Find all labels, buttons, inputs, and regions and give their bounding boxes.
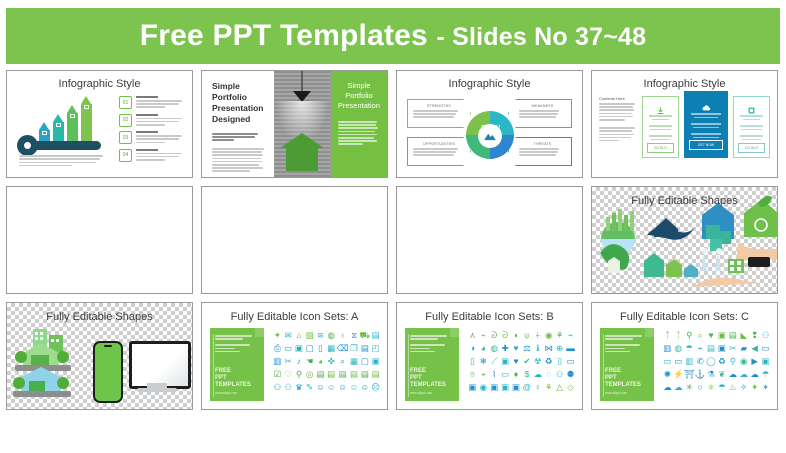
cloud3-icon[interactable]: ☁ [739,370,748,379]
swot-label: STRENGTHS [413,104,465,108]
pricing-card-2[interactable]: GET NOW [684,91,728,158]
search2-icon[interactable]: ⌕ [698,331,703,340]
pin-icon[interactable]: ✜ [328,357,335,366]
ivy-house-icon [280,133,324,171]
pencil-icon[interactable]: ✎ [306,383,313,392]
frame-icon[interactable]: ▢ [361,357,369,366]
banner-title: Free PPT Templates - Slides No 37~48 [140,19,646,53]
umbrella-icon[interactable]: ☂ [685,344,693,353]
location-icon[interactable]: ⚲ [730,357,736,366]
cloud4-icon[interactable]: ☁ [750,370,759,379]
book-green3-icon[interactable]: ▤ [339,370,347,379]
slide-thumbnail-7[interactable]: THANK YOU Insert the Subtitle of Your Pr… [396,186,583,294]
key-hole [24,142,31,149]
runner-icon[interactable]: ⚘ [545,383,553,392]
sun-icon[interactable]: ✺ [664,370,671,379]
bar-group [39,96,92,142]
banner-title-main: Free PPT Templates [140,19,428,52]
image-icon[interactable]: ▣ [762,357,770,366]
bar-1 [39,122,50,142]
contents-label: Contents Here [599,96,636,101]
swot-box-weakness: WEAKNESS [508,99,572,128]
slide3-title: Infographic Style [397,78,582,90]
partly-cloudy-icon[interactable]: ☁ [674,383,683,392]
swot-label: WEAKNESS [519,104,566,108]
heart-organ-icon[interactable]: ♥ [514,344,519,353]
bone-icon[interactable]: ⌁ [481,331,486,340]
green-card: FREEPPTTEMPLATES www.allppt.com [405,328,459,401]
calendar-icon[interactable]: ▦ [327,344,335,353]
snowflake-icon[interactable]: ❄ [480,357,487,366]
icon-grid-b: ⋏⌁ ᘒᘐ ◗⍦ ⍭◉ ⚘⌁ ◑◕ ◍✚ ♥⚖ ℹ⋈ ⊕▬ ▯❄ ⟋▣ ♥✔ ☢… [467,329,576,394]
unlock-icon[interactable]: ▤ [707,344,715,353]
at-icon[interactable]: @ [523,383,532,392]
trash-icon[interactable]: ⌫ [337,344,349,353]
user-icon[interactable]: ⚉ [567,370,575,379]
city-illustration [11,325,91,405]
phone2-icon[interactable]: ✆ [697,357,704,366]
slide12-title: Fully Editable Icon Sets: C [592,311,777,323]
video-icon[interactable]: ▣ [512,383,520,392]
paw-icon[interactable]: ❦ [718,370,725,379]
grid-icon[interactable]: ▦ [350,357,358,366]
book-green6-icon[interactable]: ▤ [372,370,380,379]
record-icon[interactable]: ◉ [740,357,747,366]
swot-box-strengths: STRENGTHS [407,99,471,128]
thumbs-up-icon[interactable]: ✦ [274,331,281,340]
smiley-icon[interactable]: ☺ [316,383,325,392]
battery3-icon[interactable]: ▭ [663,357,671,366]
person-icon[interactable]: ⚇ [274,383,282,392]
slide9-title: Fully Editable Shapes [7,311,192,323]
tv-icon[interactable]: ▤ [361,344,369,353]
card-top-lines [215,335,255,354]
trophy-icon[interactable]: ♛ [295,383,303,392]
bag-icon[interactable]: ▣ [501,357,509,366]
key-icon[interactable]: ⚲ [296,370,302,379]
heart3-icon[interactable]: ♥ [709,331,714,340]
slide2-subheading-lines [212,133,266,141]
ribbon-icon[interactable]: ⋈ [544,344,553,353]
banner-title-sub: - Slides No 37~48 [436,23,646,51]
swot-label: THREATS [519,142,566,146]
virus-icon[interactable]: ⚘ [556,331,564,340]
signal-icon[interactable]: ≋ [317,331,324,340]
brain-icon[interactable]: ᘒ [491,331,497,340]
flask-icon[interactable]: ◕ [481,344,486,353]
tag-icon[interactable]: ◰ [372,344,380,353]
item-number: 01 [119,96,132,109]
linkedin-icon[interactable]: ▣ [468,383,476,392]
card-icon[interactable]: ▭ [501,370,509,379]
gate-icon[interactable]: ⛩ [684,370,695,379]
list-item: 04 [119,149,184,163]
sleeve-icon [748,257,770,267]
triangle-icon[interactable]: △ [556,383,563,392]
stethoscope-icon[interactable]: ⌁ [568,331,573,340]
icon-grid-a: ✦✉ ⌂▨ ≋◍ ♁⧖ ⛟▤ ⎙▭ ▣▢ ▯▦ ⌫❐ ▤◰ ▥✂ ♪☚ ◕✜ ⌕… [272,329,381,394]
scissors2-icon[interactable]: ✂ [729,344,736,353]
lungs-icon[interactable]: ⋏ [469,331,475,340]
card-free-label: FREEPPTTEMPLATES [410,368,446,389]
book-icon[interactable]: ▥ [273,357,281,366]
play-icon[interactable]: ▶ [751,357,758,366]
person2-icon[interactable]: ⚇ [284,383,292,392]
slide2-panel-lines [338,121,380,145]
hourglass-icon[interactable]: ⧖ [351,331,357,340]
twitter-icon[interactable]: ▣ [501,383,509,392]
mic-icon[interactable]: ⌁ [698,344,703,353]
book-green4-icon[interactable]: ▤ [350,370,358,379]
card-fold [645,328,654,337]
recycle-icon[interactable]: ♻ [545,357,553,366]
mail-icon[interactable]: ✉ [285,331,292,340]
swot-box-opportunities: OPPORTUNITIES [407,137,471,166]
cloud2-icon[interactable]: ☁ [729,370,738,379]
chart-icon[interactable]: ▨ [306,331,314,340]
pricing-button-2[interactable]: GET NOW [689,140,723,150]
laptop-icon[interactable]: ▭ [284,344,292,353]
slide2-photo [274,71,331,177]
camera-icon[interactable]: ▣ [718,331,726,340]
card-url: www.allppt.com [410,391,432,395]
cloud-icon[interactable]: ☁ [534,370,543,379]
scissors-icon[interactable]: ✂ [285,357,292,366]
medical-cross-icon[interactable]: ✚ [502,344,509,353]
slide-thumbnail-1[interactable]: Infographic Style [6,70,193,178]
slide2-body-lines [212,148,266,172]
check-box-icon[interactable]: ☑ [274,370,282,379]
smiley5-icon[interactable]: ☺ [360,383,369,392]
cloud-icon [702,100,711,109]
drop-icon[interactable]: ◌ [546,370,551,379]
target-icon[interactable]: ◎ [306,370,313,379]
list-item: 03 [119,131,184,145]
card-url: www.allppt.com [605,391,627,395]
speaker-icon[interactable]: ◀ [751,344,758,353]
snow-icon[interactable]: ✶ [762,383,769,392]
pricing-button-1[interactable]: GO BUY [647,143,673,153]
monitor-mockup [129,341,191,389]
slide-thumbnail-2[interactable]: Simple Portfolio Presentation Designed [201,70,388,178]
slide-thumbnail-12[interactable]: Fully Editable Icon Sets: C FREEPPTTEMPL… [591,302,778,410]
phone-icon[interactable]: ▯ [318,344,323,353]
palette-icon[interactable]: ◕ [318,357,323,366]
slide2-panel-heading: Simple Portfolio Presentation [338,81,380,111]
slide-thumbnail-10[interactable]: Fully Editable Icon Sets: A FREEPPTTEMPL… [201,302,388,410]
radiation-icon[interactable]: ☢ [534,357,542,366]
heart2-icon[interactable]: ♥ [514,357,519,366]
sun2-icon[interactable]: ✳ [686,383,693,392]
book-green-icon[interactable]: ▤ [316,370,324,379]
icon-grid-c: ᛏᛏ ⚲⌕ ♥▣ ▤◣ ❢⚇ ▥◍ ☂⌁ ▤▣ ✂▰ ◀▭ ▭▭ ▥✆ ◯♻ ⚲… [662,329,771,394]
card-fold [450,328,459,337]
clock-icon[interactable]: ◯ [706,357,716,366]
monitor-icon[interactable]: ▣ [295,344,303,353]
slide11-title: Fully Editable Icon Sets: B [397,311,582,323]
foot-icon[interactable]: ᘐ [502,331,508,340]
bar-2 [53,114,64,142]
box-icon [747,102,756,111]
lock-icon[interactable]: ▥ [663,344,671,353]
smiley3-icon[interactable]: ☺ [338,383,347,392]
slide4-text-column: Contents Here [599,96,636,158]
smiley4-icon[interactable]: ☺ [350,383,359,392]
globe2-icon[interactable]: ◍ [675,344,682,353]
slide4-title: Infographic Style [599,78,770,90]
swot-box-threats: THREATS [508,137,572,166]
bandage-icon[interactable]: ▬ [566,344,575,353]
person-stand-icon[interactable]: ᛏ [665,331,670,340]
swot-label: OPPORTUNITIES [413,142,465,146]
umbrella2-icon[interactable]: ☂ [718,383,726,392]
atom-icon[interactable]: ⚛ [707,383,715,392]
storm-icon[interactable]: ☁ [663,383,672,392]
video-camera-icon[interactable]: ▤ [729,331,737,340]
card-free-label: FREEPPTTEMPLATES [215,368,251,389]
sparkle2-icon[interactable]: ✦ [751,383,758,392]
facebook-icon[interactable]: ▣ [490,383,498,392]
slide-thumbnail-5[interactable]: Column Style [6,186,193,294]
doc-icon[interactable]: ▤ [372,331,380,340]
pricing-card-3[interactable]: GO BUY [733,96,770,158]
dish-icon[interactable]: ◍ [491,344,498,353]
slide10-title: Fully Editable Icon Sets: A [202,311,387,323]
dollar-icon[interactable]: $ [525,370,530,379]
diamond2-icon[interactable]: ◇ [567,383,574,392]
briefcase-icon[interactable]: ▣ [718,344,726,353]
home-icon[interactable]: ⌂ [296,331,301,340]
slide1-title: Infographic Style [15,78,184,90]
book-green2-icon[interactable]: ▤ [327,370,335,379]
card-top-lines [410,335,450,354]
info-icon[interactable]: ℹ [536,344,539,353]
phone-mockup [93,341,123,403]
tablet-icon[interactable]: ▢ [306,344,314,353]
male-icon[interactable]: ⚲ [686,331,692,340]
window-icon[interactable]: ▣ [372,357,380,366]
card-fold [255,328,264,337]
globe-icon[interactable]: ◍ [328,331,335,340]
people-icon[interactable]: ⚇ [556,370,564,379]
header-banner: Free PPT Templates - Slides No 37~48 [6,8,780,64]
book-green5-icon[interactable]: ▤ [361,370,369,379]
item-number: 03 [119,131,132,144]
door-icon[interactable]: ▯ [557,357,562,366]
pricing-card-1[interactable]: GO BUY [642,96,679,158]
organ-icon[interactable]: ◗ [513,331,518,340]
slide-grid: Infographic Style [6,70,780,410]
battery-icon[interactable]: ▭ [567,357,575,366]
chat-icon[interactable]: ❐ [350,344,358,353]
templates-preview-page: Free PPT Templates - Slides No 37~48 Inf… [0,8,786,453]
check-icon[interactable]: ✔ [523,357,530,366]
music-icon[interactable]: ♪ [297,357,301,366]
download-icon [656,102,665,111]
tooth-icon[interactable]: ⍦ [524,331,529,340]
megaphone-icon[interactable]: ◣ [740,331,747,340]
green-card: FREEPPTTEMPLATES www.allppt.com [600,328,654,401]
swot-center-hub [478,124,502,148]
slide-thumbnail-4[interactable]: Infographic Style Contents Here [591,70,778,178]
extinguisher-icon[interactable]: ⌾ [470,370,475,379]
smiley2-icon[interactable]: ☺ [327,383,336,392]
scale-icon[interactable]: ⚖ [523,344,531,353]
hand-icon[interactable]: ☚ [306,357,314,366]
item-number: 02 [119,114,132,127]
list-item: 02 [119,114,184,128]
diamond-icon[interactable]: ♦ [514,370,518,379]
bar-3 [67,105,78,142]
cart-icon[interactable]: ⛟ [359,331,370,340]
battery2-icon[interactable]: ▭ [762,344,770,353]
plus-circle-icon[interactable]: ⊕ [556,344,563,353]
slide-thumbnail-3[interactable]: Infographic Style STRENGTHS OPPORTUNITIE… [396,70,583,178]
recycle2-icon[interactable]: ♻ [718,357,726,366]
slide1-caption [19,155,107,168]
bolt-icon[interactable]: ⚡ [673,370,684,379]
pricing-button-3[interactable]: GO BUY [738,143,764,153]
slide-thumbnail-8[interactable]: Fully Editable Shapes [591,186,778,294]
slide1-item-list: 01 02 03 04 [113,96,184,168]
card-top-lines [605,335,645,354]
anchor-icon[interactable]: ⚓ [695,370,706,379]
sparkle-icon[interactable]: ✧ [740,383,747,392]
bar-4 [81,96,92,142]
slide2-heading: Simple Portfolio Presentation Designed [212,81,266,125]
rain-icon[interactable]: ☂ [762,370,770,379]
lamp-cord [302,71,303,93]
female-icon[interactable]: ♀ [535,383,541,392]
mountain-icon [483,129,497,143]
plug-icon[interactable]: ⌇ [492,370,496,379]
pill-icon[interactable]: ◑ [470,344,475,353]
card-url: www.allppt.com [215,391,237,395]
printer-icon[interactable]: ⎙ [274,344,281,353]
card-free-label: FREEPPTTEMPLATES [605,368,641,389]
eye-icon[interactable]: ◉ [545,331,552,340]
pinterest-icon[interactable]: ◉ [480,383,487,392]
avatar-icon[interactable]: ⚇ [762,331,770,340]
signal2-icon[interactable]: ▥ [685,357,693,366]
microscope-icon[interactable]: ⌖ [481,370,486,379]
battery4-icon[interactable]: ▭ [674,357,682,366]
slide2-text-column: Simple Portfolio Presentation Designed [202,71,274,177]
circle-icon[interactable]: ○ [698,383,703,392]
search-icon[interactable]: ⌕ [340,357,345,366]
slide-thumbnail-9[interactable]: Fully Editable Shapes [6,302,193,410]
slide8-title: Fully Editable Shapes [592,195,777,207]
key-infographic-graphic [15,96,113,168]
exclamation-icon[interactable]: ❢ [751,331,758,340]
slide2-green-panel: Simple Portfolio Presentation [331,71,387,177]
person-stand2-icon[interactable]: ᛏ [676,331,681,340]
item-number: 04 [119,149,132,162]
steam-icon[interactable]: ♨ [729,383,737,392]
slide-thumbnail-11[interactable]: Fully Editable Icon Sets: B FREEPPTTEMPL… [396,302,583,410]
syringe-icon[interactable]: ⟋ [491,357,497,366]
flask2-icon[interactable]: ⚗ [707,370,715,379]
slide-thumbnail-6[interactable]: Columns Style 01 Contents Here 02 Conten… [201,186,388,294]
green-card: FREEPPTTEMPLATES www.allppt.com [210,328,264,401]
list-item: 01 [119,96,184,110]
monitor-base [137,388,177,392]
heart-icon[interactable]: ♡ [284,370,292,379]
bottle-icon[interactable]: ▯ [470,357,475,366]
dna-icon[interactable]: ⍭ [535,331,540,340]
pricing-card-group: GO BUY GET NOW [642,96,770,158]
bulb-icon[interactable]: ♁ [339,331,345,340]
smiley6-icon[interactable]: ☹ [371,383,380,392]
car-icon[interactable]: ▰ [740,344,747,353]
